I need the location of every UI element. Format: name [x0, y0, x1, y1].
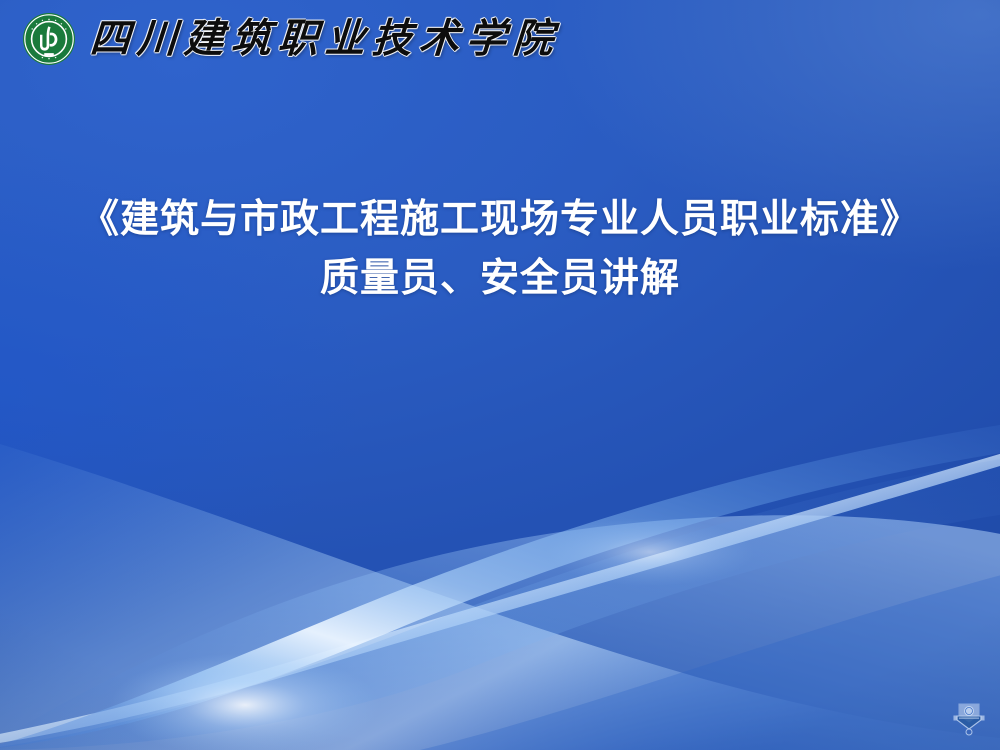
institution-brand: 四川建筑职业技术学院 [22, 9, 560, 69]
presentation-slide: 四川建筑职业技术学院 《建筑与市政工程施工现场专业人员职业标准》 质量员、安全员… [0, 0, 1000, 750]
slide-title-block: 《建筑与市政工程施工现场专业人员职业标准》 质量员、安全员讲解 [0, 190, 1000, 308]
slide-title-line-1: 《建筑与市政工程施工现场专业人员职业标准》 [0, 190, 1000, 249]
shield-badge-watermark-icon [948, 698, 990, 738]
slide-title-line-2: 质量员、安全员讲解 [0, 249, 1000, 308]
background-vignette [0, 0, 1000, 750]
university-seal-emblem-icon [22, 12, 76, 66]
institution-name: 四川建筑职业技术学院 [89, 19, 562, 59]
